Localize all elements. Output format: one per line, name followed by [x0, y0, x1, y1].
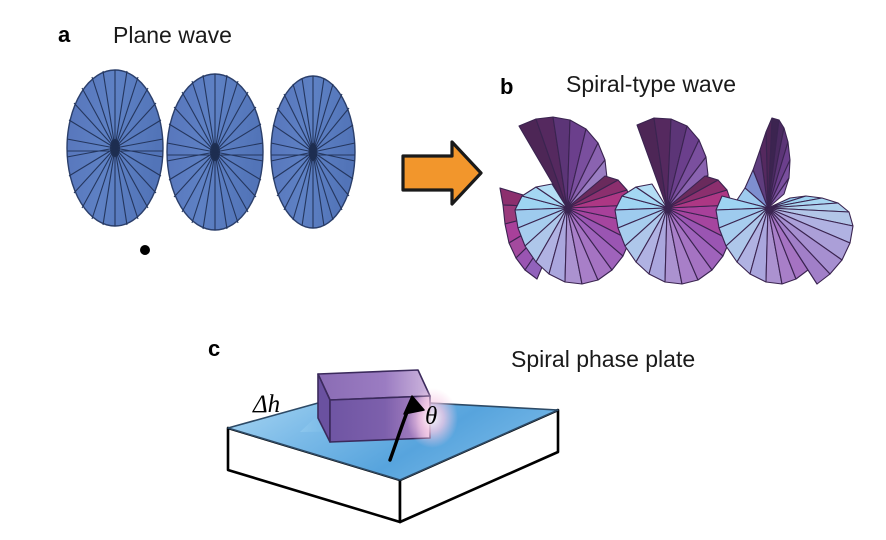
- plane-wave-group: [67, 70, 355, 255]
- spiral-turn-3: [716, 118, 853, 284]
- plane-wave-disk-2: [167, 74, 263, 230]
- figure-root: a Plane wave b Spiral-type wave c Spiral…: [0, 0, 886, 540]
- plane-wave-disk-1: [67, 70, 163, 226]
- panel-title-spiral-type-wave: Spiral-type wave: [566, 73, 736, 96]
- spiral-turn-1: [500, 117, 633, 284]
- panel-title-spiral-phase-plate: Spiral phase plate: [511, 348, 695, 371]
- figure-graphics: [0, 0, 886, 540]
- panel-letter-a: a: [58, 24, 70, 46]
- spiral-turn-2: [615, 118, 733, 284]
- panel-letter-b: b: [500, 76, 513, 98]
- step-top-face: [318, 370, 430, 400]
- reference-dot: [140, 245, 150, 255]
- plane-wave-disk-3: [271, 76, 355, 228]
- panel-letter-c: c: [208, 338, 220, 360]
- panel-title-plane-wave: Plane wave: [113, 24, 232, 47]
- theta-label: θ: [425, 404, 437, 429]
- delta-h-label: Δh: [253, 392, 280, 417]
- conversion-arrow: [403, 142, 481, 204]
- spiral-wave-group: [500, 117, 853, 284]
